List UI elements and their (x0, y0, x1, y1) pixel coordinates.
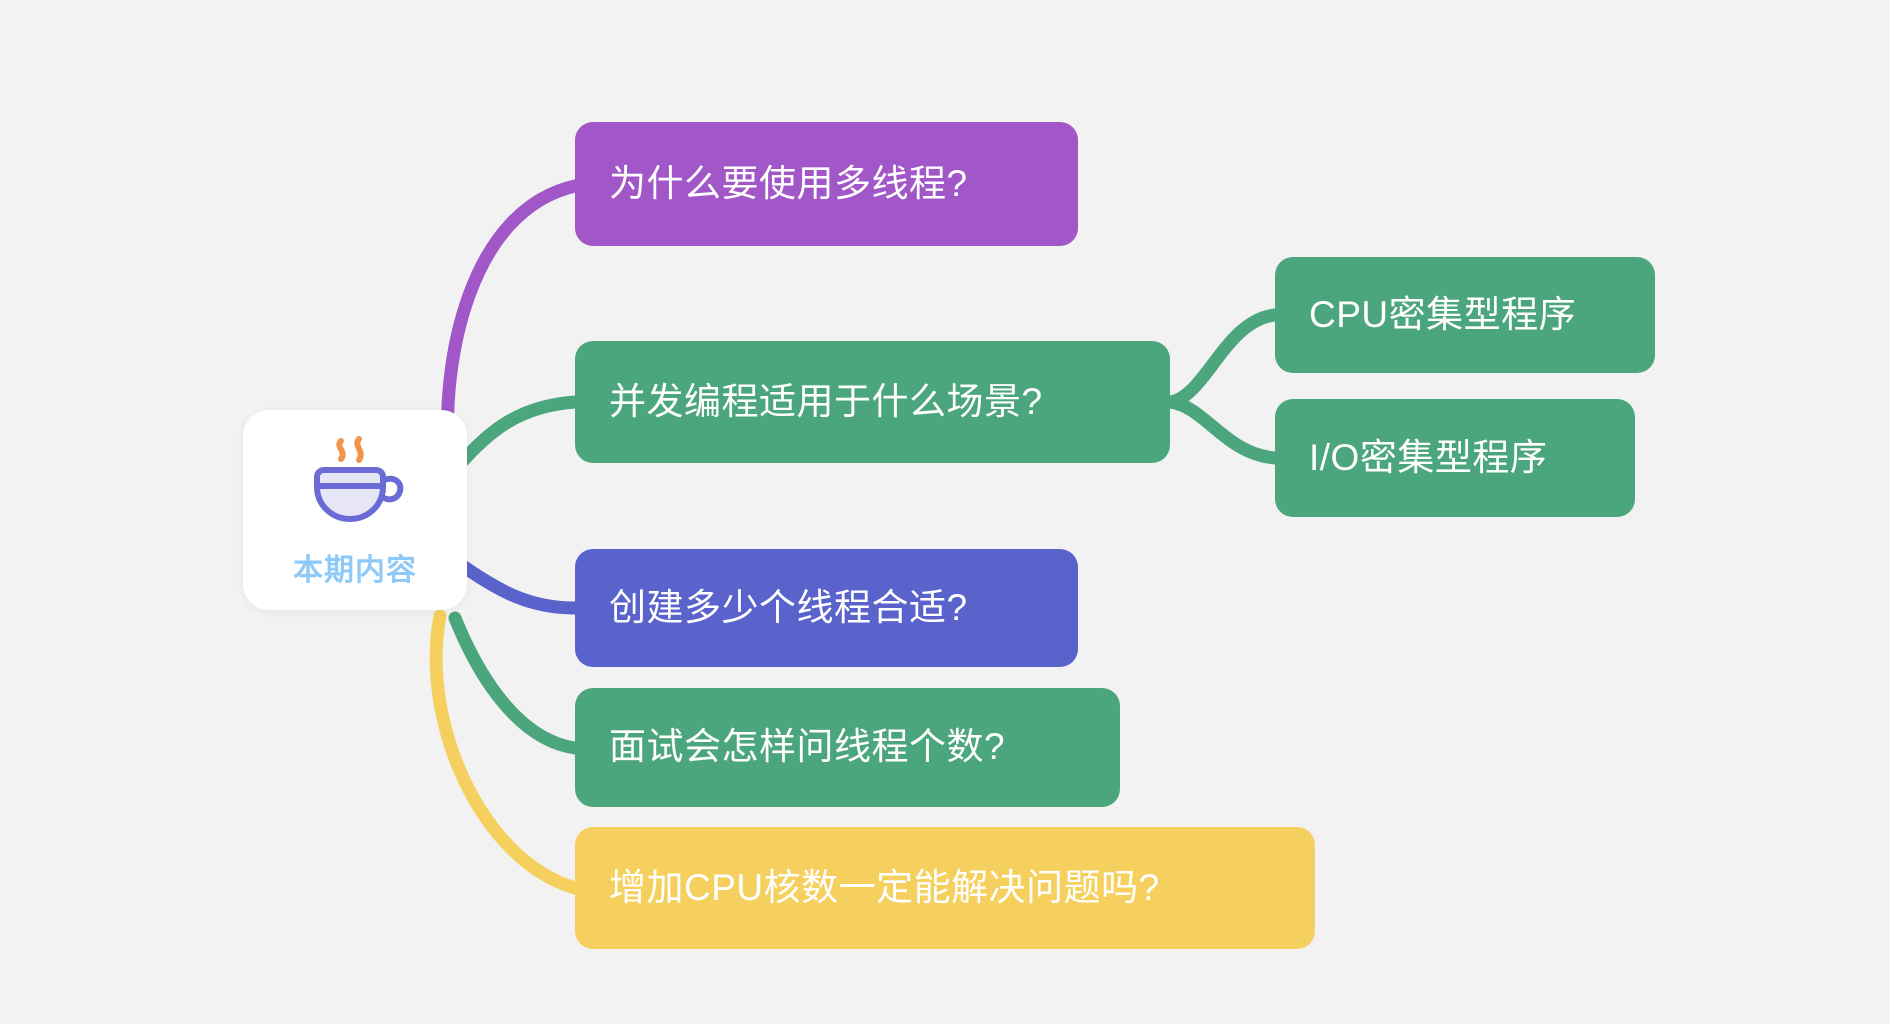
node-label: I/O密集型程序 (1309, 438, 1547, 479)
mindmap-canvas: 本期内容 为什么要使用多线程?并发编程适用于什么场景?CPU密集型程序I/O密集… (0, 0, 1890, 1024)
node-label: 并发编程适用于什么场景? (609, 382, 1043, 423)
node-label: 增加CPU核数一定能解决问题吗? (609, 868, 1160, 909)
connector-root-to-concurrency-scenarios (460, 402, 575, 464)
connector-root-to-why-multithreading (447, 186, 575, 462)
connector-root-to-more-cpu-cores (436, 616, 575, 888)
coffee-cup-icon (301, 433, 409, 529)
node-label: 创建多少个线程合适? (609, 588, 968, 629)
node-why-multithreading[interactable]: 为什么要使用多线程? (575, 122, 1078, 246)
node-concurrency-scenarios[interactable]: 并发编程适用于什么场景? (575, 341, 1170, 463)
node-more-cpu-cores[interactable]: 增加CPU核数一定能解决问题吗? (575, 827, 1315, 949)
root-node-label: 本期内容 (293, 545, 417, 589)
connector-root-to-how-many-threads (460, 564, 575, 608)
node-cpu-bound-program[interactable]: CPU密集型程序 (1275, 257, 1655, 373)
connector-root-to-interview-thread-count (455, 618, 575, 748)
node-label: CPU密集型程序 (1309, 295, 1576, 336)
connector-concurrency-to-io-bound (1170, 402, 1275, 458)
connector-concurrency-to-cpu-bound (1170, 315, 1275, 402)
node-io-bound-program[interactable]: I/O密集型程序 (1275, 399, 1635, 517)
node-how-many-threads[interactable]: 创建多少个线程合适? (575, 549, 1078, 667)
node-label: 为什么要使用多线程? (609, 164, 968, 205)
node-interview-thread-count[interactable]: 面试会怎样问线程个数? (575, 688, 1120, 807)
root-node[interactable]: 本期内容 (243, 410, 467, 610)
node-label: 面试会怎样问线程个数? (609, 727, 1005, 768)
